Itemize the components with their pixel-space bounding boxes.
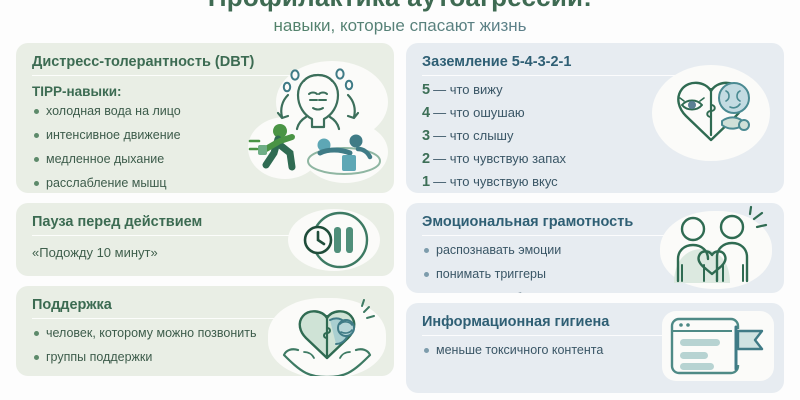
list-item: меньше токсичного контента (422, 343, 770, 358)
grounding-text: — что чувствую запах (433, 151, 566, 166)
card-distress-tolerance[interactable]: Дистресс-толерантность (DBT) TIPP-навыки… (16, 43, 394, 193)
list-item: просить о помощи (32, 374, 380, 376)
card-support[interactable]: Поддержка человек, которому можно позвон… (16, 286, 394, 376)
grounding-text: — что ошушаю (433, 105, 525, 120)
card-pause-before-action[interactable]: Пауза перед действием «Подожду 10 минут» (16, 203, 394, 276)
left-column: Дистресс-толерантность (DBT) TIPP-навыки… (16, 43, 394, 393)
list-item: распознавать эмоции (422, 243, 770, 258)
grounding-number: 4 (422, 105, 430, 121)
list-item: 5— что вижу (422, 82, 770, 98)
list-item: 2— что чувствую запах (422, 151, 770, 167)
bullet-list: распознавать эмоции понимать триггеры ра… (422, 243, 770, 293)
list-item: расслабление мышц (32, 176, 380, 191)
list-item: интенсивное движение (32, 128, 380, 143)
bullet-list: человек, которому можно позвонить группы… (32, 326, 380, 376)
page-header: Профилактика аутоагрессии: навыки, котор… (0, 0, 800, 38)
grounding-text: — что чувствую вкус (433, 174, 558, 189)
cards-layout: Дистресс-толерантность (DBT) TIPP-навыки… (0, 43, 800, 393)
list-item: разрешать себе чувствовать (422, 291, 770, 293)
bullet-list: меньше токсичного контента (422, 343, 770, 358)
card-title: Пауза перед действием (32, 213, 380, 238)
list-item: понимать триггеры (422, 267, 770, 282)
card-information-hygiene[interactable]: Информационная гигиена меньше токсичного… (406, 303, 784, 393)
grounding-number: 1 (422, 174, 430, 190)
list-item: 1— что чувствую вкус (422, 174, 770, 190)
card-subheading: TIPP-навыки: (32, 84, 380, 99)
grounding-list: 5— что вижу 4— что ошушаю 3— что слышу 2… (422, 82, 770, 190)
list-item: медленное дыхание (32, 152, 380, 167)
card-grounding[interactable]: Заземление 5-4-3-2-1 5— что вижу 4— что … (406, 43, 784, 193)
grounding-number: 3 (422, 128, 430, 144)
list-item: группы поддержки (32, 350, 380, 365)
grounding-number: 5 (422, 82, 430, 98)
card-title: Поддержка (32, 296, 380, 321)
grounding-text: — что слышу (433, 128, 513, 143)
grounding-number: 2 (422, 151, 430, 167)
card-emotional-literacy[interactable]: Эмоциональная грамотность распознавать э… (406, 203, 784, 293)
list-item: 3— что слышу (422, 128, 770, 144)
list-item: 4— что ошушаю (422, 105, 770, 121)
right-column: Заземление 5-4-3-2-1 5— что вижу 4— что … (406, 43, 784, 393)
grounding-text: — что вижу (433, 82, 503, 97)
page-subtitle: навыки, которые спасают жизнь (0, 14, 800, 38)
list-item: холодная вода на лицо (32, 104, 380, 119)
card-title: Заземление 5-4-3-2-1 (422, 53, 770, 78)
list-item: человек, которому можно позвонить (32, 326, 380, 341)
card-title: Информационная гигиена (422, 313, 770, 338)
card-title: Эмоциональная грамотность (422, 213, 770, 238)
bullet-list: холодная вода на лицо интенсивное движен… (32, 104, 380, 191)
card-title: Дистресс-толерантность (DBT) (32, 53, 380, 78)
card-quote: «Подожду 10 минут» (32, 245, 380, 260)
page-title: Профилактика аутоагрессии: (0, 0, 800, 8)
